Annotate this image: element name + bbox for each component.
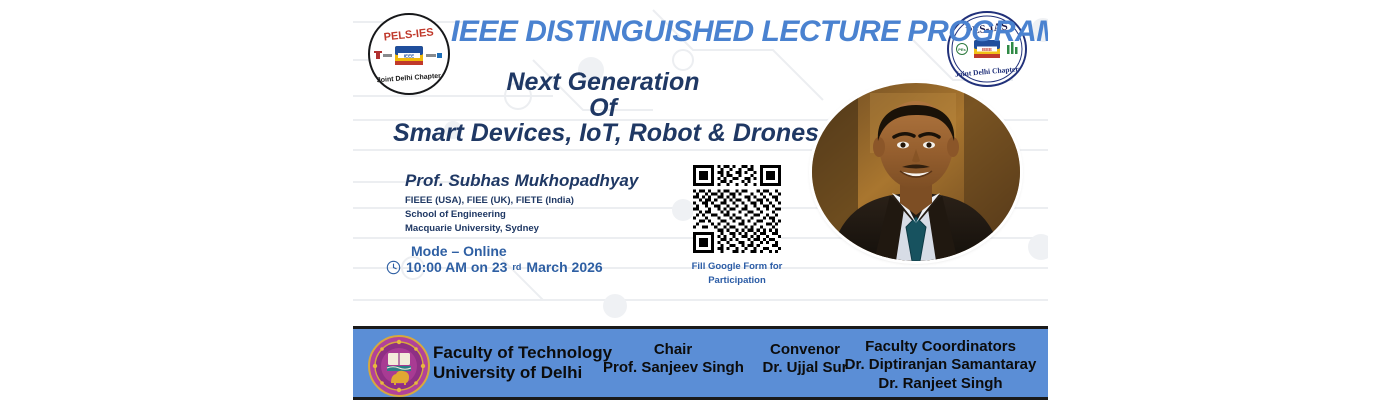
speaker-portrait bbox=[812, 83, 1020, 261]
event-poster: PELS-IES IEEE Joint Delhi Cha bbox=[353, 0, 1048, 413]
heading-line-1: Next Generation bbox=[393, 70, 813, 96]
speaker-university: Macquarie University, Sydney bbox=[405, 222, 574, 236]
coordinators-label: Faculty Coordinators bbox=[833, 338, 1048, 356]
qr-caption: Fill Google Form for Participation bbox=[689, 260, 785, 288]
speaker-fellowships: FIEEE (USA), FIEE (UK), FIETE (India) bbox=[405, 194, 574, 208]
qr-caption-line-1: Fill Google Form for bbox=[689, 260, 785, 274]
heading-line-3: Smart Devices, IoT, Robot & Drones bbox=[393, 121, 813, 147]
faculty-coordinators-block: Faculty Coordinators Dr. Diptiranjan Sam… bbox=[833, 338, 1048, 393]
coordinator-2: Dr. Ranjeet Singh bbox=[833, 375, 1048, 393]
poster-footer-bar: Faculty of Technology University of Delh… bbox=[353, 326, 1048, 400]
date-ordinal-suffix: rd bbox=[512, 262, 521, 272]
event-date: March 2026 bbox=[526, 259, 602, 275]
chair-label: Chair bbox=[603, 341, 743, 359]
qr-caption-line-2: Participation bbox=[689, 274, 785, 288]
event-mode: Mode – Online bbox=[411, 243, 507, 259]
organizing-institution: Faculty of Technology University of Delh… bbox=[433, 343, 612, 383]
chair-block: Chair Prof. Sanjeev Singh bbox=[603, 341, 743, 377]
heading-line-2: Of bbox=[393, 96, 813, 122]
lecture-topic-heading: Next Generation Of Smart Devices, IoT, R… bbox=[393, 70, 813, 147]
event-time: 10:00 AM on 23 bbox=[406, 259, 507, 275]
speaker-school: School of Engineering bbox=[405, 208, 574, 222]
coordinator-1: Dr. Diptiranjan Samantaray bbox=[833, 356, 1048, 374]
event-datetime: 10:00 AM on 23rd March 2026 bbox=[386, 259, 603, 275]
clock-icon bbox=[386, 260, 401, 275]
chair-name: Prof. Sanjeev Singh bbox=[603, 359, 743, 377]
registration-qr-block[interactable]: Fill Google Form for Participation bbox=[689, 165, 785, 288]
speaker-credentials: FIEEE (USA), FIEE (UK), FIETE (India) Sc… bbox=[405, 194, 574, 235]
university-of-delhi-logo bbox=[368, 335, 430, 397]
screenshot-canvas: PELS-IES IEEE Joint Delhi Cha bbox=[0, 0, 1400, 413]
faculty-name: Faculty of Technology bbox=[433, 343, 612, 363]
program-title: IEEE DISTINGUISHED LECTURE PROGRAM bbox=[451, 15, 931, 49]
university-name: University of Delhi bbox=[433, 363, 612, 383]
speaker-name: Prof. Subhas Mukhopadhyay bbox=[405, 171, 638, 191]
qr-code[interactable] bbox=[693, 165, 781, 253]
svg-text:IEEE: IEEE bbox=[404, 54, 414, 59]
poster-upper-section: PELS-IES IEEE Joint Delhi Cha bbox=[353, 0, 1048, 325]
